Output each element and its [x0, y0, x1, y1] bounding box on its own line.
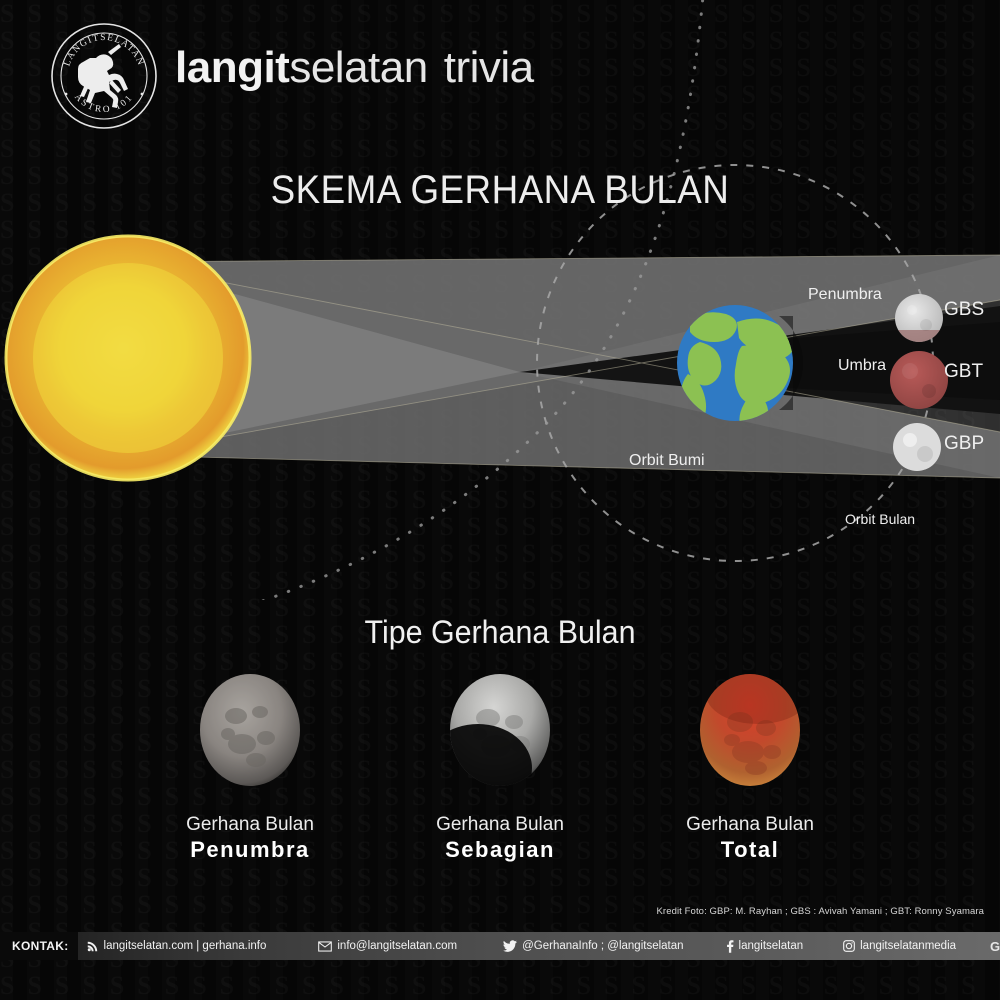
footer-item-email[interactable]: info@langitselatan.com: [318, 940, 457, 952]
label-umbra: Umbra: [838, 357, 886, 375]
footer-item-label: @GerhanaInfo ; @langitselatan: [522, 940, 683, 952]
label-orbit-bumi: Orbit Bumi: [629, 452, 705, 470]
photo-credit: Kredit Foto: GBP: M. Rayhan ; GBS : Aviv…: [657, 906, 985, 917]
types-section-title: Tipe Gerhana Bulan: [25, 614, 975, 651]
footer-item-label: langitselatan.com | gerhana.info: [104, 940, 267, 952]
label-gbt: GBT: [944, 361, 983, 383]
moon-total-photo: [698, 672, 802, 788]
wordmark-bold: langit: [175, 43, 289, 92]
eclipse-types-row: Gerhana Bulan Penumbra: [0, 672, 1000, 892]
moon-partial-photo: [448, 672, 552, 788]
envelope-icon: [318, 941, 332, 952]
eclipse-type-item: Gerhana Bulan Total: [610, 672, 890, 863]
eclipse-type-item: Gerhana Bulan Penumbra: [110, 672, 390, 863]
footer-item-label: langitselatanmedia: [860, 940, 956, 952]
eclipse-type-line1: Gerhana Bulan: [110, 813, 390, 837]
moon-gbp: [893, 423, 941, 471]
label-penumbra: Penumbra: [808, 286, 882, 304]
google-plus-icon: G+: [990, 939, 1000, 954]
twitter-icon: [503, 940, 517, 952]
wordmark: langitselatantrivia: [175, 42, 534, 94]
facebook-icon: [726, 940, 734, 953]
footer-item-instagram[interactable]: langitselatanmedia: [843, 940, 956, 952]
moon-penumbral-photo: [198, 672, 302, 788]
wordmark-suffix: trivia: [444, 43, 534, 92]
eclipse-type-caption: Gerhana Bulan Total: [610, 813, 890, 863]
moon-gbt: [890, 351, 948, 409]
footer-item-label: langitselatan: [739, 940, 804, 952]
langitselatan-logo-icon: LANGITSELATAN ASTRO 101: [50, 22, 158, 130]
footer-item-label: info@langitselatan.com: [337, 940, 457, 952]
label-gbp: GBP: [944, 433, 984, 455]
eclipse-type-line1: Gerhana Bulan: [610, 813, 890, 837]
wordmark-light: selatan: [289, 43, 427, 92]
eclipse-type-caption: Gerhana Bulan Sebagian: [360, 813, 640, 863]
footer-contact-bar: KONTAK: langitselatan.com | gerhana.info: [0, 932, 1000, 960]
diagram-title: SKEMA GERHANA BULAN: [40, 168, 960, 213]
label-orbit-bulan: Orbit Bulan: [845, 511, 915, 527]
sun: [6, 236, 250, 480]
page-header: LANGITSELATAN ASTRO 101 langitselatantri…: [0, 0, 1000, 140]
eclipse-type-item: Gerhana Bulan Sebagian: [360, 672, 640, 863]
footer-item-facebook[interactable]: langitselatan: [726, 940, 804, 953]
infographic-canvas: SSSSSSSSSSSSSSSSSSSSSSSSSSSSSSSSSSSSSSSS…: [0, 0, 1000, 1000]
rss-icon: [87, 940, 99, 952]
label-gbs: GBS: [944, 299, 984, 321]
eclipse-type-line2: Sebagian: [360, 837, 640, 863]
footer-item-website[interactable]: langitselatan.com | gerhana.info: [87, 940, 267, 952]
eclipse-type-line2: Total: [610, 837, 890, 863]
instagram-icon: [843, 940, 855, 952]
footer-item-twitter[interactable]: @GerhanaInfo ; @langitselatan: [503, 940, 683, 952]
footer-item-googleplus[interactable]: G+LangitselatanMedia: [990, 939, 1000, 954]
eclipse-type-caption: Gerhana Bulan Penumbra: [110, 813, 390, 863]
logo-centaur-figure: [78, 44, 128, 108]
footer-kontak-label: KONTAK:: [0, 939, 69, 953]
eclipse-type-line1: Gerhana Bulan: [360, 813, 640, 837]
eclipse-type-line2: Penumbra: [110, 837, 390, 863]
